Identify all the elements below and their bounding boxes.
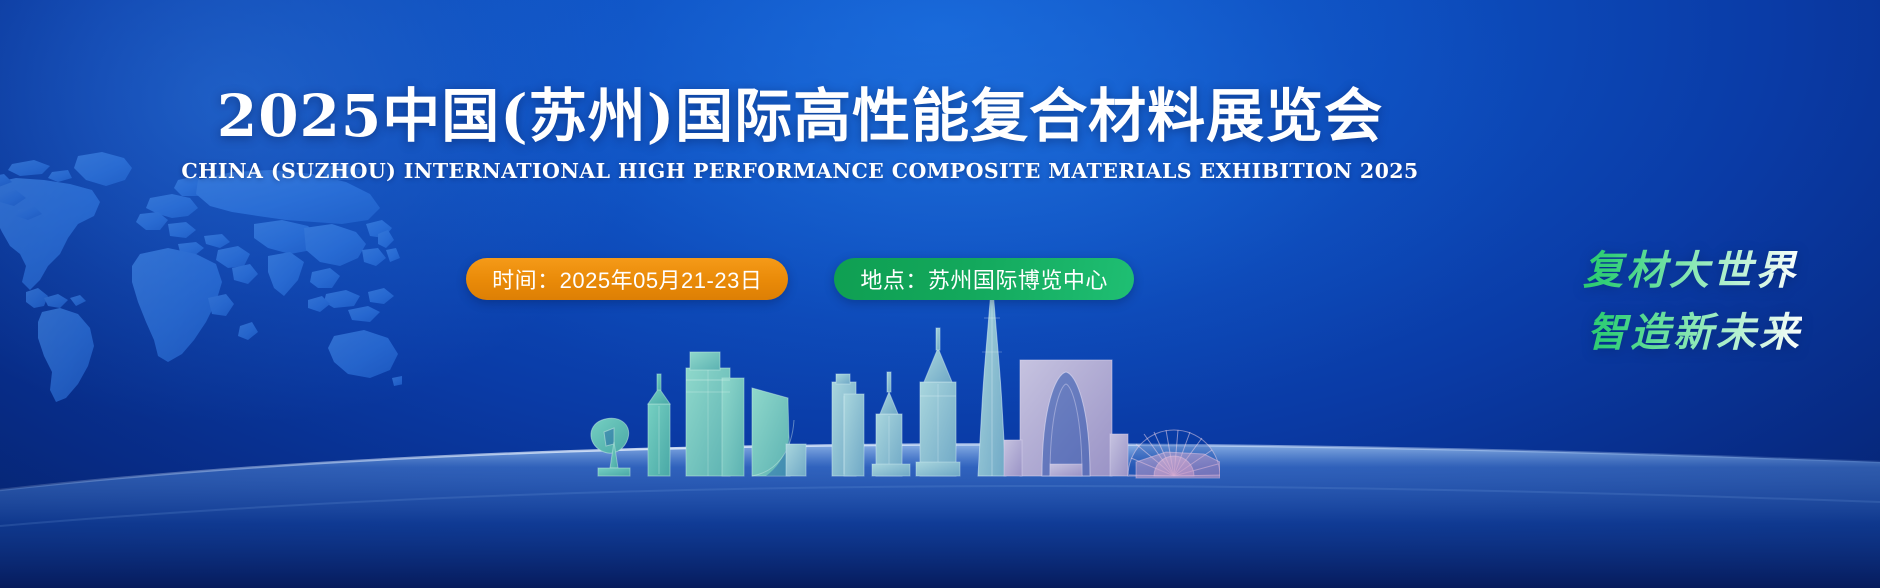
event-venue-badge: 地点：苏州国际博览中心 [834, 258, 1134, 300]
page-title: 2025中国(苏州)国际高性能复合材料展览会 [0, 86, 1600, 147]
event-date-badge: 时间：2025年05月21-23日 [466, 258, 788, 300]
slogan-line-2: 智造新未来 [1531, 302, 1802, 364]
exhibition-banner: 2025中国(苏州)国际高性能复合材料展览会 CHINA (SUZHOU) IN… [0, 0, 1880, 588]
event-info-row: 时间：2025年05月21-23日 地点：苏州国际博览中心 [0, 258, 1600, 300]
